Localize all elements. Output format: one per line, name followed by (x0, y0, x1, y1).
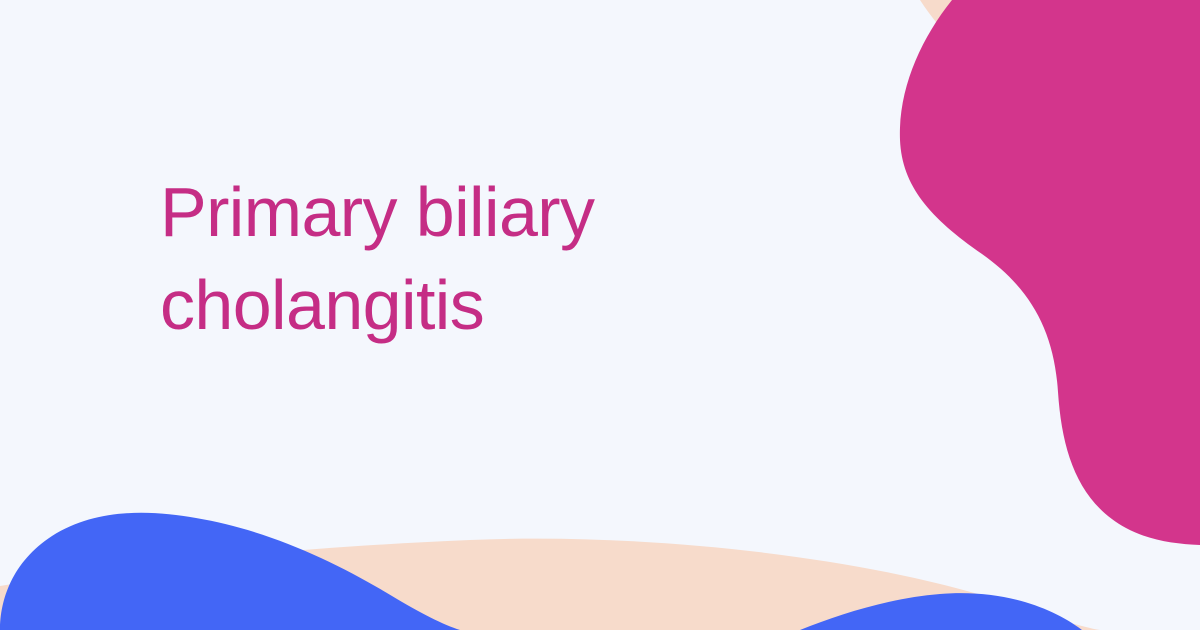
magenta-blob-right-icon (900, 0, 1200, 545)
social-share-card: Primary biliary cholangitis (0, 0, 1200, 630)
page-title: Primary biliary cholangitis (160, 166, 780, 352)
page-title-text: Primary biliary cholangitis (160, 166, 780, 352)
